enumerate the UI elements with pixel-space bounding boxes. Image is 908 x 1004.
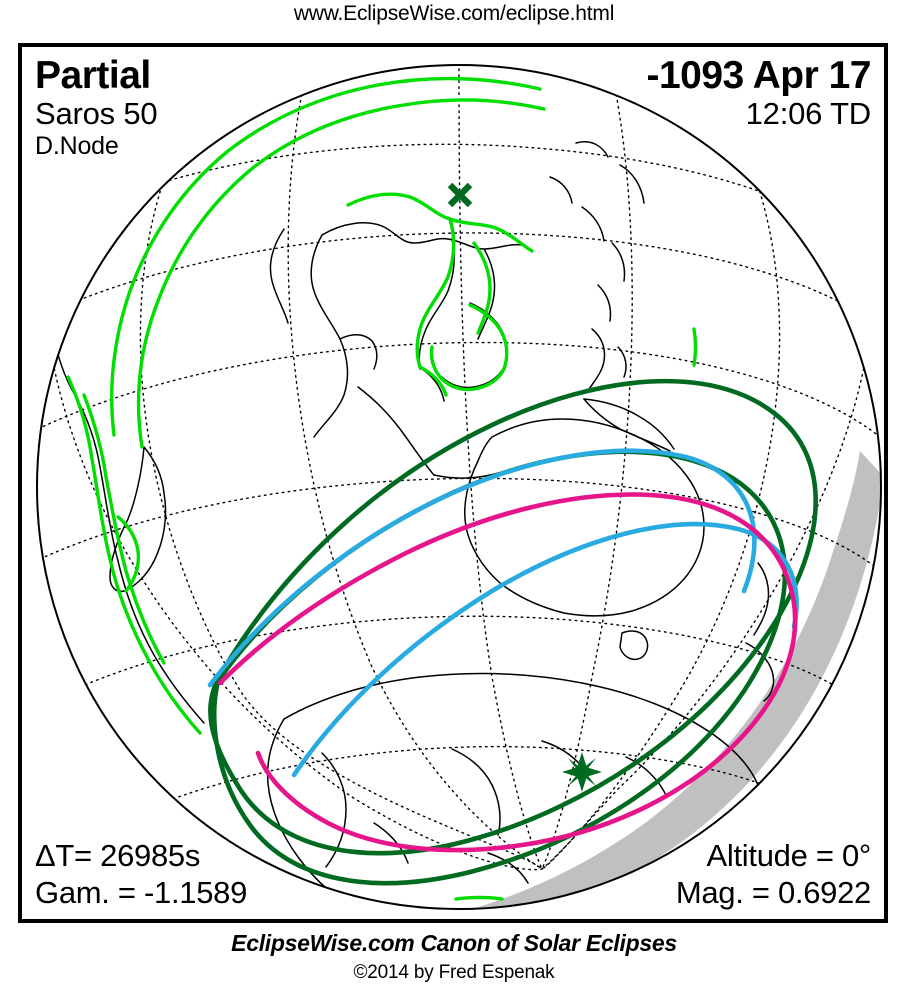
greatest-eclipse-star-marker	[562, 752, 602, 792]
saros-label: Saros 50	[35, 96, 157, 132]
footer-credits: EclipseWise.com Canon of Solar Eclipses …	[0, 930, 908, 984]
canon-title: EclipseWise.com Canon of Solar Eclipses	[0, 930, 908, 957]
eclipse-info-top-left: Partial Saros 50 D.Node	[35, 55, 157, 161]
eclipse-stats-bottom-right: Altitude = 0° Mag. = 0.6922	[676, 837, 871, 911]
eclipse-type-label: Partial	[35, 55, 157, 96]
delta-t-label: ΔT= 26985s	[35, 837, 247, 874]
altitude-label: Altitude = 0°	[676, 837, 871, 874]
globe-orthographic-map	[22, 47, 884, 919]
eclipse-map-frame: Partial Saros 50 D.Node -1093 Apr 17 12:…	[18, 43, 888, 923]
eclipse-date-label: -1093 Apr 17	[646, 55, 871, 96]
eclipse-time-label: 12:06 TD	[646, 96, 871, 132]
eclipse-diagram-page: www.EclipseWise.com/eclipse.html	[0, 0, 908, 1004]
magnitude-label: Mag. = 0.6922	[676, 874, 871, 911]
eclipse-stats-bottom-left: ΔT= 26985s Gam. = -1.1589	[35, 837, 247, 911]
source-url: www.EclipseWise.com/eclipse.html	[0, 2, 908, 26]
gamma-label: Gam. = -1.1589	[35, 874, 247, 911]
eclipse-datetime-top-right: -1093 Apr 17 12:06 TD	[646, 55, 871, 132]
node-label: D.Node	[35, 132, 157, 161]
copyright-notice: ©2014 by Fred Espenak	[0, 962, 908, 984]
